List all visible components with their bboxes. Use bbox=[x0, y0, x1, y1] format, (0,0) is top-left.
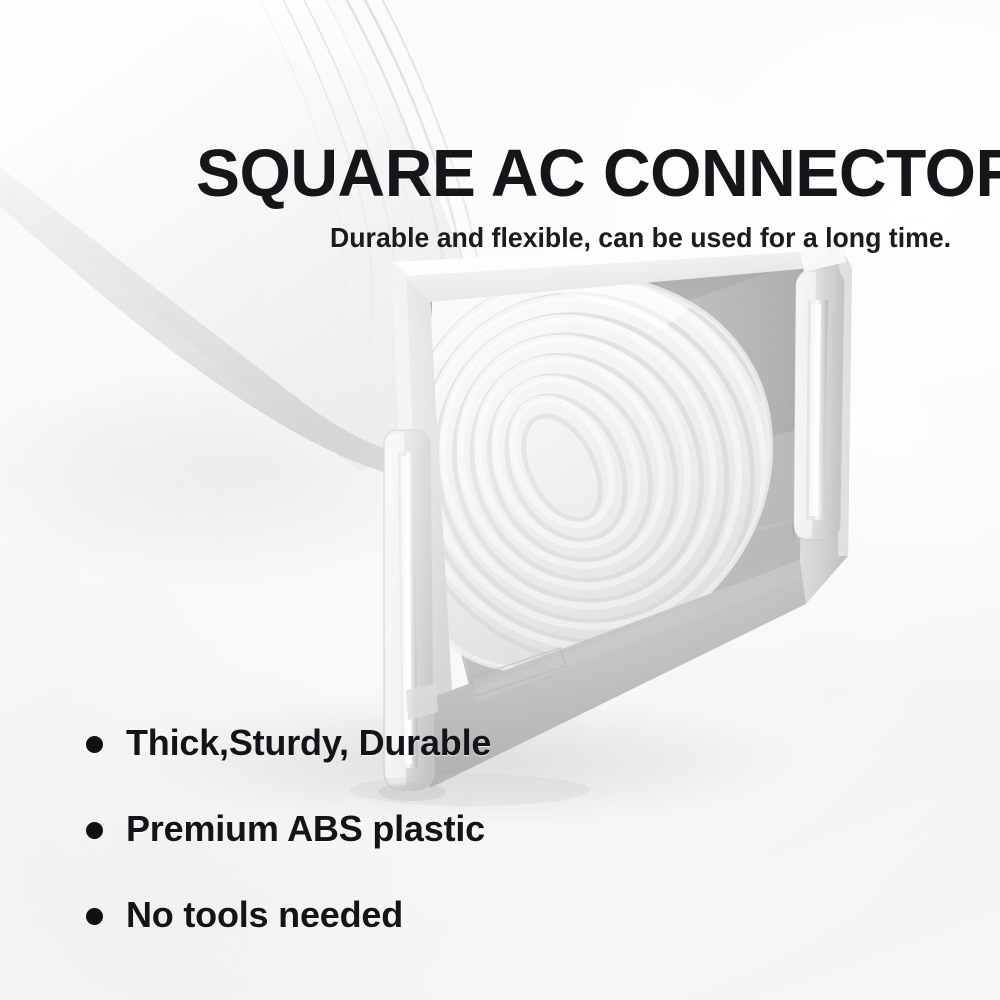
bullet-dot-icon bbox=[86, 822, 103, 839]
bullet-dot-icon bbox=[86, 736, 103, 753]
bullet-dot-icon bbox=[86, 908, 103, 925]
list-item: No tools needed bbox=[86, 872, 606, 958]
product-marketing-poster: SQUARE AC CONNECTOR Durable and flexible… bbox=[0, 0, 1000, 1000]
list-item: Thick,Sturdy, Durable bbox=[86, 700, 606, 786]
page-title: SQUARE AC CONNECTOR bbox=[196, 140, 984, 207]
feature-label: Thick,Sturdy, Durable bbox=[126, 722, 491, 764]
subtitle: Durable and flexible, can be used for a … bbox=[330, 224, 951, 252]
feature-list: Thick,Sturdy, Durable Premium ABS plasti… bbox=[86, 700, 606, 958]
feature-label: Premium ABS plastic bbox=[126, 808, 485, 850]
list-item: Premium ABS plastic bbox=[86, 786, 606, 872]
feature-label: No tools needed bbox=[126, 894, 403, 936]
